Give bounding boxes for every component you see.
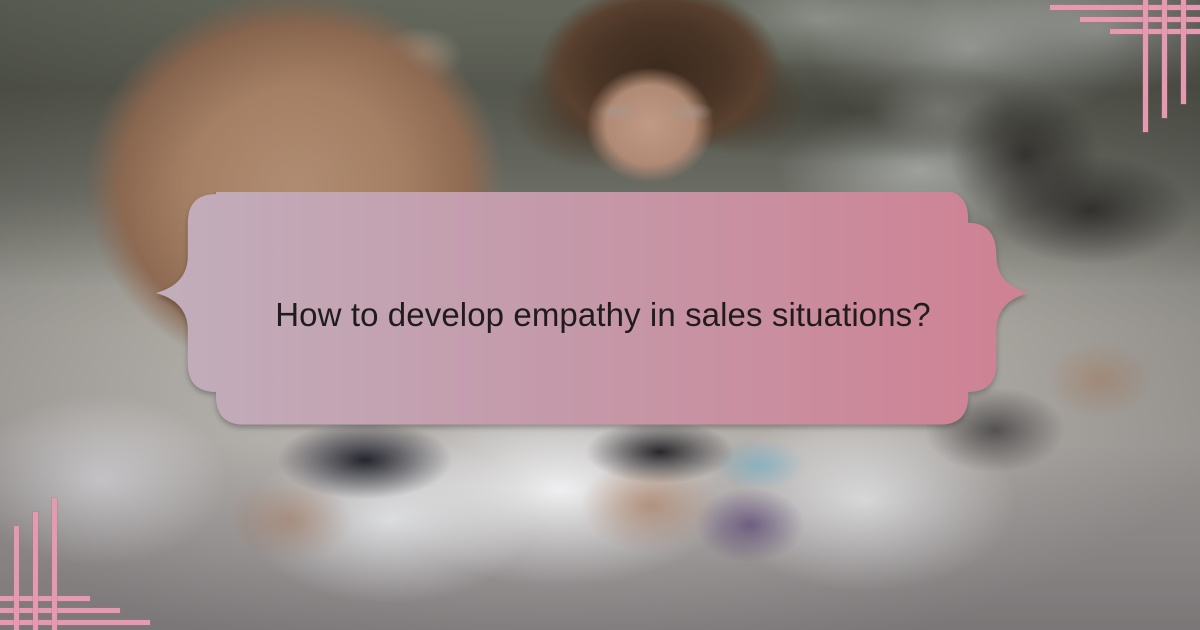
ornament-top-right-vertical-line-2 [1162, 0, 1167, 118]
title-banner: How to develop empathy in sales situatio… [105, 192, 1095, 437]
screenshot-canvas: How to develop empathy in sales situatio… [0, 0, 1200, 630]
ornament-bottom-left-horizontal-line-1 [0, 620, 150, 625]
ornament-top-right-vertical-line-1 [1143, 0, 1148, 132]
ornament-top-right-horizontal-line-3 [1110, 29, 1200, 34]
ornament-bottom-left-vertical-line-3 [14, 526, 19, 630]
ornament-top-right-horizontal-line-1 [1050, 5, 1200, 10]
banner-title-text: How to develop empathy in sales situatio… [105, 192, 1095, 437]
ornament-top-right-vertical-line-3 [1181, 0, 1186, 104]
ornament-bottom-left-vertical-line-2 [33, 512, 38, 630]
ornament-bottom-left-vertical-line-1 [52, 498, 57, 630]
